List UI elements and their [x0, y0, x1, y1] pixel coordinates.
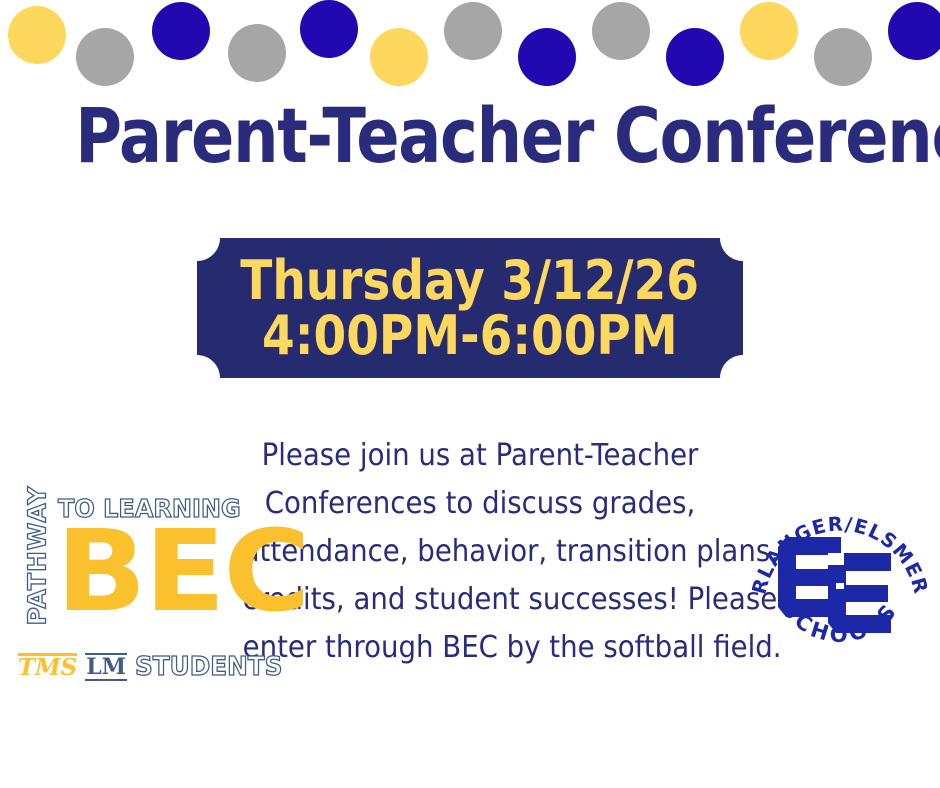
dot-top-6	[370, 28, 428, 86]
banner-notch-bottom-left	[174, 355, 220, 401]
dot-top-10	[666, 28, 724, 86]
dot-top-7	[444, 2, 502, 60]
dot-top-11	[740, 2, 798, 60]
dot-top-9	[592, 2, 650, 60]
banner-time-line: 4:00PM-6:00PM	[262, 308, 678, 363]
dot-top-8	[518, 28, 576, 86]
dot-top-13	[888, 2, 940, 60]
banner-date-line: Thursday 3/12/26	[241, 253, 700, 308]
page-title: Parent-Teacher Conferences	[75, 96, 865, 176]
dot-top-1	[8, 6, 66, 64]
dot-top-4	[228, 24, 286, 82]
body-copy-line: Conferences to discuss grades,	[243, 480, 718, 528]
dot-top-12	[814, 28, 872, 86]
bec-logo-pathway-text: PATHWAY	[23, 500, 52, 626]
banner-notch-top-left	[174, 215, 220, 261]
body-copy: Please join us at Parent-Teacher Confere…	[243, 432, 718, 672]
bec-pathway-to-learning-logo: PATHWAY TO LEARNING BEC TMS LM STUDENTS	[8, 492, 223, 680]
poster-canvas: Parent-Teacher Conferences Thursday 3/12…	[0, 0, 940, 788]
bec-logo-lm-mark: LM	[85, 653, 127, 681]
decorative-dot-row-top	[0, 0, 940, 88]
erlanger-elsmere-schools-logo: ERLANGER/ELSMERE SCHOOLS	[752, 495, 928, 675]
dot-top-3	[152, 2, 210, 60]
banner-notch-top-right	[720, 215, 766, 261]
body-copy-line: credits, and student successes! Please	[243, 576, 718, 624]
bec-logo-acronym: BEC	[56, 516, 308, 628]
bec-logo-footer-row: TMS LM STUDENTS	[18, 652, 223, 682]
dot-top-5	[300, 0, 358, 58]
banner-notch-bottom-right	[720, 355, 766, 401]
body-copy-line: attendance, behavior, transition plans,	[243, 528, 718, 576]
date-time-banner: Thursday 3/12/26 4:00PM-6:00PM	[197, 238, 743, 378]
bec-logo-students-text: STUDENTS	[135, 652, 282, 682]
bec-logo-tms-mark: TMS	[18, 653, 77, 680]
dot-top-2	[76, 28, 134, 86]
body-copy-line: enter through BEC by the softball field.	[243, 624, 718, 672]
body-copy-line: Please join us at Parent-Teacher	[243, 432, 718, 480]
